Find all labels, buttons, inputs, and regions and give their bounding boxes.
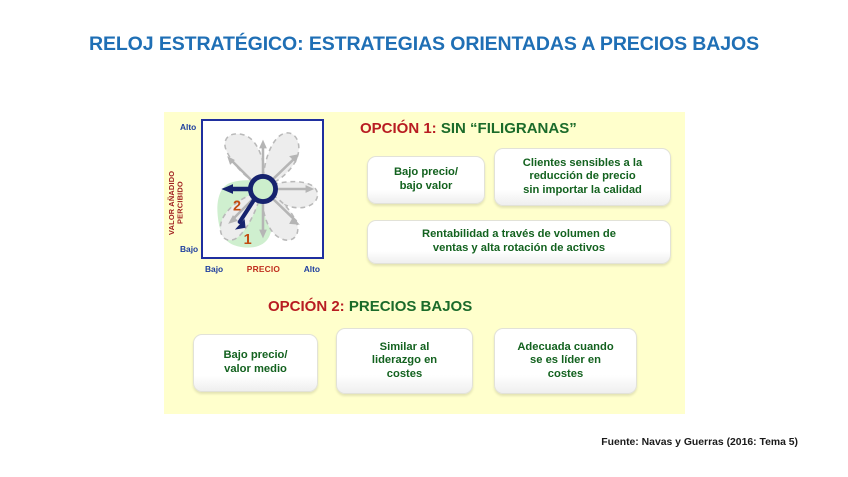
x-axis-title: PRECIO: [247, 264, 280, 274]
x-axis-labels: Bajo PRECIO Alto: [201, 264, 324, 274]
page-title: RELOJ ESTRATÉGICO: ESTRATEGIAS ORIENTADA…: [0, 33, 848, 56]
option-2-text: PRECIOS BAJOS: [349, 298, 472, 315]
option-1-number: OPCIÓN 1:: [360, 120, 441, 137]
info-box-bajo-precio-bajo-valor[interactable]: Bajo precio/bajo valor: [367, 156, 485, 204]
info-box-adecuada-lider[interactable]: Adecuada cuandose es líder encostes: [494, 328, 637, 394]
info-box-bajo-precio-valor-medio[interactable]: Bajo precio/valor medio: [193, 334, 318, 392]
source-note: Fuente: Navas y Guerras (2016: Tema 5): [601, 437, 798, 448]
strategy-clock-plot-area: 2 1: [201, 119, 324, 259]
y-axis-low-label: Bajo: [180, 244, 198, 254]
option-1-heading: OPCIÓN 1: SIN “FILIGRANAS”: [360, 120, 577, 137]
option-2-heading: OPCIÓN 2: PRECIOS BAJOS: [268, 298, 472, 315]
info-box-text: Adecuada cuandose es líder encostes: [517, 341, 613, 382]
info-box-similar-liderazgo[interactable]: Similar alliderazgo encostes: [336, 328, 473, 394]
y-axis-title: VALOR AÑADIDO PERCIBIDO: [168, 160, 184, 246]
info-box-text: Bajo precio/valor medio: [223, 349, 287, 376]
x-axis-high-label: Alto: [304, 264, 320, 274]
content-panel: Alto VALOR AÑADIDO PERCIBIDO Bajo: [164, 112, 685, 414]
info-box-clientes-sensibles[interactable]: Clientes sensibles a lareducción de prec…: [494, 148, 671, 206]
clock-centre-circle: [250, 176, 275, 201]
strategy-clock-svg: 2 1: [203, 121, 322, 257]
info-box-text: Rentabilidad a través de volumen deventa…: [422, 228, 616, 255]
option-2-number: OPCIÓN 2:: [268, 298, 349, 315]
x-axis-low-label: Bajo: [205, 264, 223, 274]
y-axis-high-label: Alto: [180, 122, 196, 132]
marker-label-1: 1: [244, 232, 252, 248]
info-box-text: Bajo precio/bajo valor: [394, 166, 458, 193]
info-box-text: Similar alliderazgo encostes: [372, 341, 437, 382]
info-box-text: Clientes sensibles a lareducción de prec…: [523, 157, 642, 198]
info-box-rentabilidad[interactable]: Rentabilidad a través de volumen deventa…: [367, 220, 671, 264]
marker-label-2: 2: [233, 198, 241, 214]
strategy-clock-figure: Alto VALOR AÑADIDO PERCIBIDO Bajo: [172, 116, 352, 288]
option-1-text: SIN “FILIGRANAS”: [441, 120, 577, 137]
